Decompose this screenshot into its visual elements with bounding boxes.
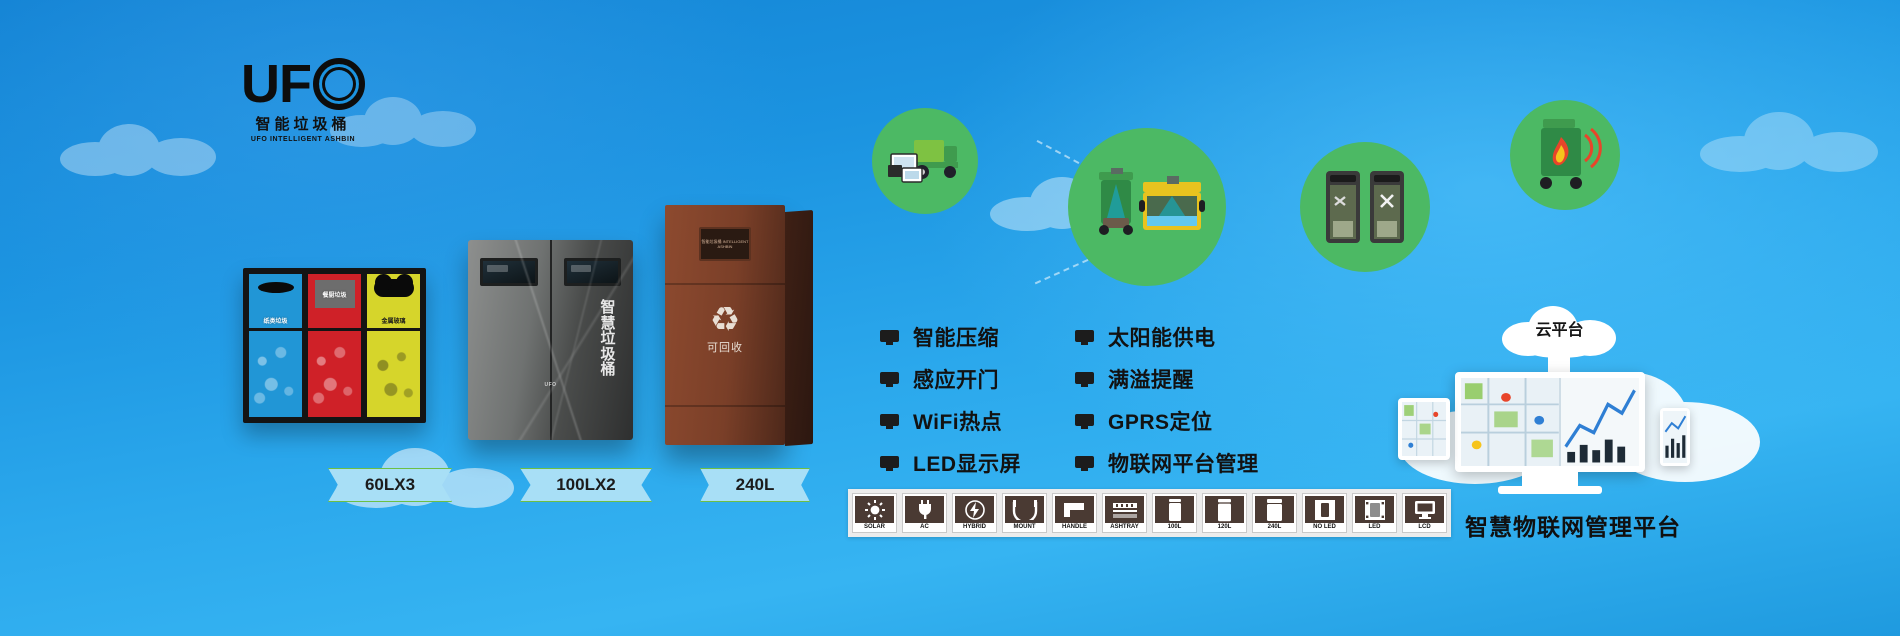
panel-divider — [665, 283, 785, 285]
feature-circle-compaction — [1068, 128, 1226, 286]
monitor-screen — [1455, 372, 1645, 472]
monitor-bullet-icon — [880, 330, 899, 345]
feature-column-left: 智能压缩 感应开门 WiFi热点 LED显示屏 — [880, 322, 1021, 478]
feature-item: 满溢提醒 — [1075, 364, 1259, 394]
option-chip-solar: SOLAR — [852, 493, 897, 533]
monitor-bullet-icon — [1075, 414, 1094, 429]
grey-bin-side-text: 智慧垃圾桶 — [598, 300, 618, 378]
clover-slot-icon — [374, 279, 414, 297]
waste-graphic — [308, 331, 361, 417]
option-caption: SOLAR — [864, 523, 885, 532]
compartment-bottom-panel — [367, 331, 420, 417]
feature-list: 智能压缩 感应开门 WiFi热点 LED显示屏 太阳能供电 满溢提醒 — [880, 322, 1259, 478]
feature-circle-fleet — [872, 108, 978, 214]
panel-divider — [665, 405, 785, 407]
feature-item: 感应开门 — [880, 364, 1021, 394]
compartment-top-panel: 金属玻璃 — [367, 274, 420, 328]
cloud-decor-5 — [1700, 110, 1880, 174]
panel-slot-icon: 餐厨垃圾 — [315, 280, 355, 308]
option-chip-lcd: LCD — [1402, 493, 1447, 533]
cloud-platform-badge: 云平台 — [1502, 304, 1617, 358]
deposit-window-icon — [480, 258, 538, 286]
bin-compartment-kitchen: 餐厨垃圾 — [308, 274, 361, 417]
option-chip-led: LED — [1352, 493, 1397, 533]
brown-bin-screen-text: 智能垃圾桶 INTELLIGENT ASHBIN — [701, 239, 749, 249]
bin-three-compartment: 纸类垃圾 餐厨垃圾 金属玻璃 — [243, 268, 426, 423]
option-caption: LED — [1369, 523, 1381, 532]
compartment-label: 金属玻璃 — [381, 316, 405, 328]
option-chip-240l: 240L — [1252, 493, 1297, 533]
option-chip-ashtray: ASHTRAY — [1102, 493, 1147, 533]
solar-compaction-icon — [1087, 168, 1207, 246]
feature-item: LED显示屏 — [880, 448, 1021, 478]
monitor-bullet-icon — [880, 372, 899, 387]
platform-phone — [1660, 408, 1690, 466]
option-chip-hybrid: HYBRID — [952, 493, 997, 533]
bin-120l-icon — [1205, 496, 1244, 523]
handle-icon — [1055, 496, 1094, 523]
feature-circle-fire-alarm — [1510, 100, 1620, 210]
compartment-top-panel: 纸类垃圾 — [249, 274, 302, 328]
bin-single-compartment: 智能垃圾桶 INTELLIGENT ASHBIN ♻ 可回收 — [665, 205, 785, 445]
option-caption: 120L — [1218, 523, 1232, 532]
no-led-icon — [1305, 496, 1344, 523]
compartment-bottom-panel — [308, 331, 361, 417]
monitor-bullet-icon — [1075, 372, 1094, 387]
sun-icon — [855, 496, 894, 523]
compartment-label: 纸类垃圾 — [263, 316, 287, 328]
option-caption: HYBRID — [963, 523, 986, 532]
option-chip-no-led: NO LED — [1302, 493, 1347, 533]
option-icon-strip: SOLAR AC HYBRID MOUNT — [848, 489, 1451, 537]
oval-slot-icon — [258, 282, 294, 293]
bin-100l-icon — [1155, 496, 1194, 523]
feature-label: 满溢提醒 — [1108, 364, 1194, 394]
wall-mount-icon — [1005, 496, 1044, 523]
platform-tablet — [1398, 398, 1450, 460]
brown-bin-display-screen: 智能垃圾桶 INTELLIGENT ASHBIN — [699, 227, 751, 261]
option-chip-mount: MOUNT — [1002, 493, 1047, 533]
monitor-stand — [1522, 472, 1578, 486]
option-caption: ASHTRAY — [1110, 523, 1138, 532]
option-caption: MOUNT — [1014, 523, 1036, 532]
phone-screen — [1663, 411, 1687, 463]
recycle-icon: ♻ — [707, 303, 743, 337]
brand-logo: UF 智能垃圾桶 UFO INTELLIGENT ASHBIN — [238, 58, 368, 143]
lcd-icon — [1405, 496, 1444, 523]
capacity-ribbon-60l: 60LX3 — [328, 468, 452, 502]
monitor-bullet-icon — [880, 414, 899, 429]
feature-item: 太阳能供电 — [1075, 322, 1259, 352]
platform-monitor — [1455, 372, 1645, 494]
brown-bin-side-panel — [785, 210, 813, 446]
feature-item: 智能压缩 — [880, 322, 1021, 352]
capacity-ribbon-240l: 240L — [700, 468, 810, 502]
tablet-screen — [1402, 402, 1446, 456]
logo-wordmark-row: UF — [238, 58, 368, 110]
platform-title: 智慧物联网管理平台 — [1443, 508, 1703, 542]
bin-compartment-recyclable: 纸类垃圾 — [249, 274, 302, 417]
feature-item: WiFi热点 — [880, 406, 1021, 436]
monitor-bullet-icon — [1075, 330, 1094, 345]
option-caption: 100L — [1168, 523, 1182, 532]
option-caption: NO LED — [1313, 523, 1336, 532]
cloud-platform-label: 云平台 — [1502, 304, 1617, 358]
fire-alarm-icon — [1525, 117, 1605, 193]
grey-bin-right-half — [550, 240, 634, 440]
logo-english-name: UFO INTELLIGENT ASHBIN — [238, 136, 368, 143]
compartment-label: 餐厨垃圾 — [322, 290, 346, 299]
power-plug-icon — [905, 496, 944, 523]
compartment-bottom-panel — [249, 331, 302, 417]
dashboard-map-panel — [1461, 378, 1559, 466]
grey-bin-left-half — [468, 240, 550, 440]
capacity-ribbon-100l: 100LX2 — [520, 468, 652, 502]
option-caption: 240L — [1268, 523, 1282, 532]
dual-bin-icon — [1320, 165, 1410, 249]
logo-wordmark: UF — [241, 60, 311, 109]
bin-240l-icon — [1255, 496, 1294, 523]
option-caption: AC — [920, 523, 929, 532]
feature-item: 物联网平台管理 — [1075, 448, 1259, 478]
feature-label: 智能压缩 — [913, 322, 999, 352]
waste-graphic — [367, 331, 420, 417]
grey-bin-brand-mark: UFO — [544, 382, 556, 388]
option-caption: HANDLE — [1062, 523, 1087, 532]
compartment-top-panel: 餐厨垃圾 — [308, 274, 361, 328]
ashtray-icon — [1105, 496, 1144, 523]
feature-item: GPRS定位 — [1075, 406, 1259, 436]
feature-column-right: 太阳能供电 满溢提醒 GPRS定位 物联网平台管理 — [1075, 322, 1259, 478]
led-icon — [1355, 496, 1394, 523]
feature-label: 物联网平台管理 — [1108, 448, 1259, 478]
cloud-decor-1 — [60, 120, 220, 180]
promo-banner: UF 智能垃圾桶 UFO INTELLIGENT ASHBIN 纸类垃圾 餐厨垃… — [0, 0, 1900, 636]
feature-label: WiFi热点 — [913, 406, 1002, 436]
logo-chinese-name: 智能垃圾桶 — [238, 113, 368, 134]
feature-label: GPRS定位 — [1108, 406, 1213, 436]
monitor-base — [1498, 486, 1602, 494]
recycle-label: 可回收 — [707, 339, 743, 355]
option-chip-handle: HANDLE — [1052, 493, 1097, 533]
feature-label: 太阳能供电 — [1108, 322, 1216, 352]
option-chip-100l: 100L — [1152, 493, 1197, 533]
monitor-bullet-icon — [1075, 456, 1094, 471]
feature-label: LED显示屏 — [913, 448, 1021, 478]
feature-label: 感应开门 — [913, 364, 999, 394]
dashboard-chart-panel — [1559, 378, 1639, 466]
deposit-window-icon — [564, 258, 622, 286]
option-caption: LCD — [1418, 523, 1430, 532]
feature-circle-dual-bin — [1300, 142, 1430, 272]
recycle-marking: ♻ 可回收 — [707, 303, 743, 355]
lightning-bolt-icon — [955, 496, 994, 523]
fleet-management-icon — [888, 132, 962, 190]
option-chip-ac: AC — [902, 493, 947, 533]
monitor-bullet-icon — [880, 456, 899, 471]
bin-compartment-metal-glass: 金属玻璃 — [367, 274, 420, 417]
waste-graphic — [249, 331, 302, 417]
logo-ring-icon — [313, 58, 365, 110]
option-chip-120l: 120L — [1202, 493, 1247, 533]
